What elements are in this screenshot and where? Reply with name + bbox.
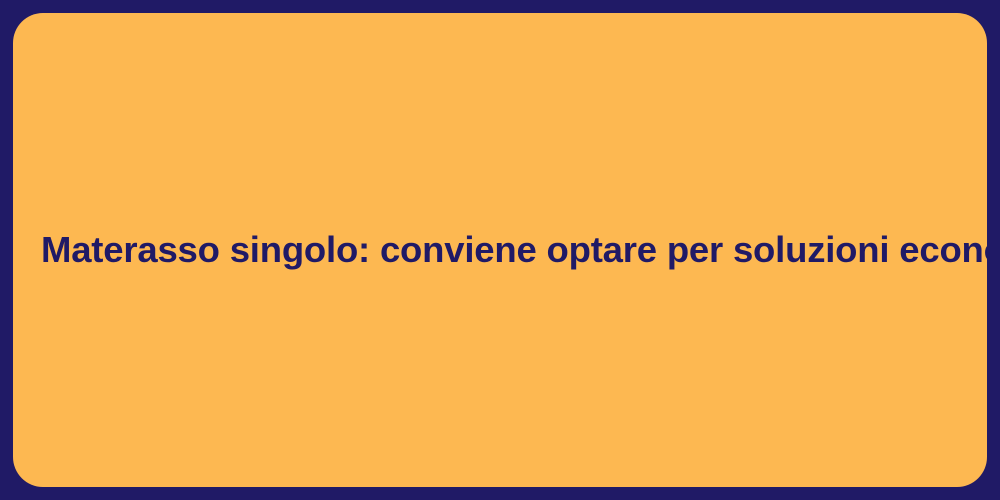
banner-frame: Materasso singolo: conviene optare per s… <box>0 0 1000 500</box>
title-card: Materasso singolo: conviene optare per s… <box>13 13 987 487</box>
page-title: Materasso singolo: conviene optare per s… <box>13 228 987 273</box>
